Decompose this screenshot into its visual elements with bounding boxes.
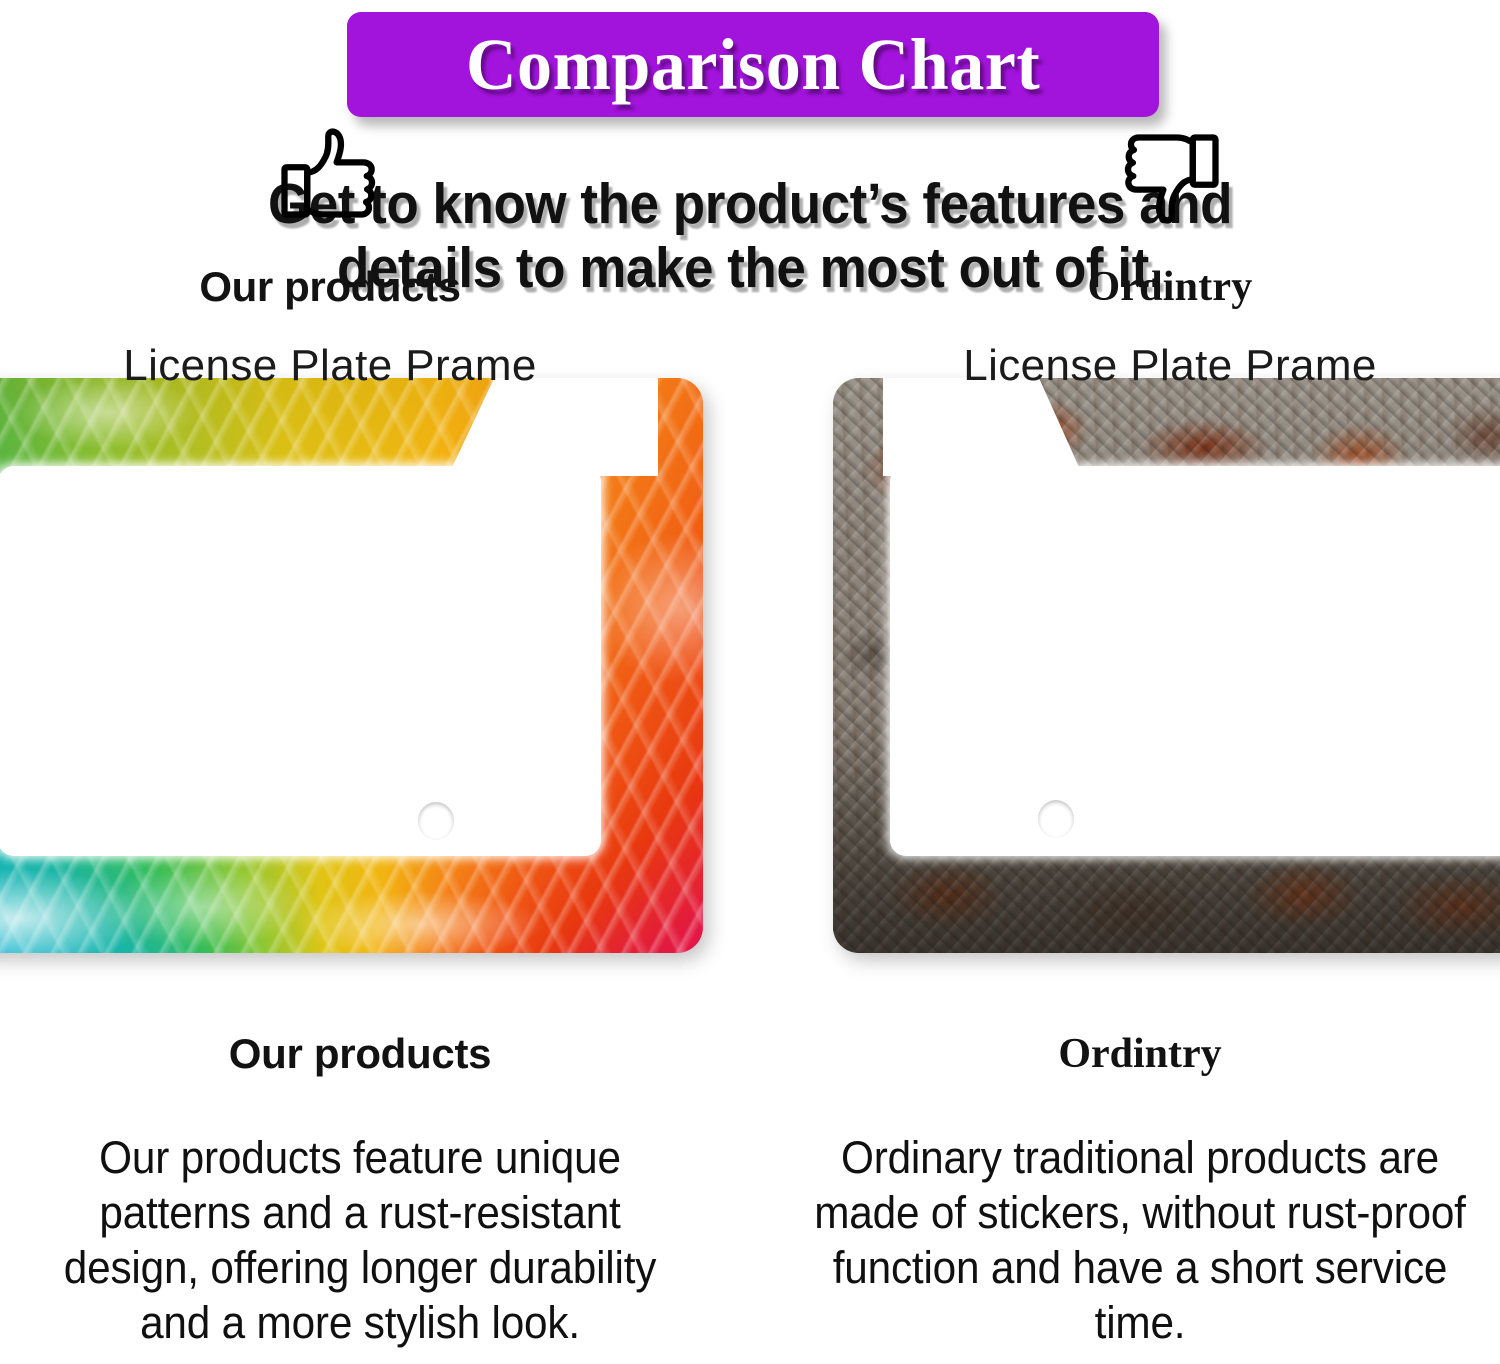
plate-window	[890, 466, 1500, 856]
left-product-frame	[0, 378, 703, 953]
right-frame-content: Ordintry License Plate Prame	[870, 120, 1470, 391]
left-in-frame-heading: Our products	[199, 263, 460, 311]
page-title: Comparison Chart	[466, 23, 1040, 107]
thumbs-up-icon	[274, 120, 386, 237]
thumbs-down-icon	[1114, 120, 1226, 237]
plate-window	[0, 466, 601, 856]
right-in-frame-heading: Ordintry	[1088, 263, 1253, 311]
title-banner: Comparison Chart	[347, 12, 1159, 117]
right-description-column: Ordintry Ordinary traditional products a…	[790, 1030, 1490, 1350]
right-desc-body: Ordinary traditional products are made o…	[811, 1130, 1469, 1350]
right-product-frame	[833, 378, 1500, 953]
left-desc-body: Our products feature unique patterns and…	[31, 1130, 689, 1350]
left-desc-heading: Our products	[10, 1030, 710, 1078]
left-frame-content: Our products License Plate Prame	[60, 120, 600, 391]
comparison-chart-page: Comparison Chart Get to know the product…	[0, 0, 1500, 1364]
right-in-frame-subheading: License Plate Prame	[963, 341, 1377, 391]
mounting-hole	[418, 802, 454, 840]
left-in-frame-subheading: License Plate Prame	[123, 341, 537, 391]
mounting-hole	[1038, 800, 1074, 838]
right-desc-heading: Ordintry	[790, 1030, 1490, 1078]
left-description-column: Our products Our products feature unique…	[10, 1030, 710, 1350]
